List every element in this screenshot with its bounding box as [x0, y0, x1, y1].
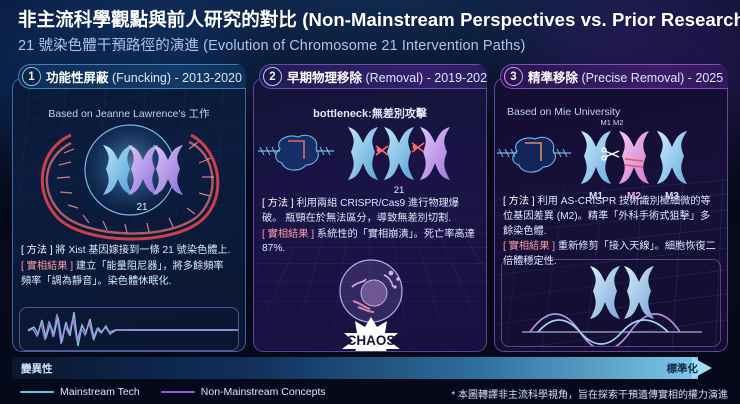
- header: 非主流科學觀點與前人研究的對比 (Non-Mainstream Perspect…: [18, 8, 726, 55]
- panel-2-result-tag: [ 實相結果 ]: [262, 229, 314, 240]
- chromosome-m3-icon: [657, 131, 687, 184]
- chaos-badge-label: CHAOS: [347, 333, 396, 348]
- panel-2-result: [ 實相結果 ] 系統性的「實相崩潰」。死亡率高達 87%.: [262, 228, 478, 258]
- panel-2-method: [ 方法 ] 利用兩組 CRISPR/Cas9 進行物理爆破。 瓶頸在於無法區分…: [262, 197, 478, 227]
- cell-chaos-icon: CHAOS: [254, 257, 487, 352]
- panel-2-early-physical-removal[interactable]: bottleneck:無差別攻擊: [253, 64, 487, 352]
- panel-3-text: [ 方法 ] 利用 AS-CRISPR 技術識別極細微的等位基因差異 (M2)。…: [503, 195, 719, 271]
- panel-3-result-tag: [ 實相結果 ]: [503, 241, 555, 252]
- panel-2-illustration: 21: [254, 119, 486, 197]
- legend-item-non-mainstream: Non-Mainstream Concepts: [161, 386, 326, 398]
- legend-swatch-mainstream-icon: [20, 391, 54, 393]
- as-crispr-icon: [497, 137, 571, 172]
- panel-1-title-zh: 功能性屏蔽: [46, 71, 109, 85]
- waveform-silencing-icon: [20, 308, 239, 350]
- panel-2-header[interactable]: 2 早期物理移除 (Removal) - 2019-2023: [257, 64, 487, 89]
- diploid-stability-icon: [502, 260, 721, 346]
- panel-1-method-tag: [ 方法 ]: [21, 245, 53, 256]
- panel-1-method: [ 方法 ] 將 Xist 基因嫁接到一條 21 號染色體上.: [21, 244, 237, 259]
- chromosome-stable-2-icon: [624, 266, 654, 319]
- legend: Mainstream Tech Non-Mainstream Concepts: [20, 386, 326, 398]
- chromosome-3-icon: [420, 127, 450, 180]
- page-title-zh: 非主流科學觀點與前人研究的對比: [18, 9, 297, 30]
- crispr-cut-diagram-icon: 21: [254, 119, 487, 197]
- cell-icon: [340, 260, 402, 322]
- panel-2-number: 2: [263, 67, 282, 86]
- legend-label-mainstream: Mainstream Tech: [60, 386, 140, 398]
- panel-3-precise-removal[interactable]: Based on Mie University M1 M2: [494, 64, 728, 352]
- panel-3-chip: 3 精準移除 (Precise Removal) - 2025: [500, 64, 728, 89]
- panel-1-header[interactable]: 1 功能性屏蔽 (Funcking) - 2013-2020: [16, 64, 246, 89]
- infographic-root: 非主流科學觀點與前人研究的對比 (Non-Mainstream Perspect…: [0, 0, 740, 404]
- as-crispr-precise-diagram-icon: M1 M2: [495, 115, 728, 201]
- chaos-badge-icon: CHAOS: [342, 317, 400, 352]
- panel-2-title-rest: (Removal) - 2019-2023: [362, 71, 487, 85]
- panel-1-body: 21 Based on Jeanne Lawrence's 工作 [ 方法 ] …: [12, 78, 246, 352]
- panel-3-result: [ 實相結果 ] 重新修剪「接入天線」。細胞恢復二倍體穩定性.: [503, 240, 719, 270]
- panel-1-chip: 1 功能性屏蔽 (Funcking) - 2013-2020: [18, 64, 246, 89]
- sine-wave-purple-icon: [530, 314, 680, 346]
- chromosome-number-label: 21: [136, 202, 148, 213]
- allele-marker-top-label: M1 M2: [601, 118, 624, 127]
- panel-2-text: [ 方法 ] 利用兩組 CRISPR/Cas9 進行物理爆破。 瓶頸在於無法區分…: [262, 197, 478, 258]
- panel-1-title: 功能性屏蔽 (Funcking) - 2013-2020: [46, 67, 242, 86]
- panel-2-title: 早期物理移除 (Removal) - 2019-2023: [287, 67, 487, 86]
- panel-1-method-text: 將 Xist 基因嫁接到一條 21 號染色體上.: [53, 245, 231, 256]
- panel-3-body: Based on Mie University M1 M2: [494, 78, 728, 352]
- panel-1-result-tag: [ 實相結果 ]: [21, 261, 73, 272]
- panel-1-caption: Based on Jeanne Lawrence's 工作: [13, 106, 245, 121]
- panel-2-title-zh: 早期物理移除: [287, 71, 362, 85]
- cas9-icon: [258, 135, 334, 170]
- axis-right-label: 標準化: [667, 361, 699, 376]
- axis-left-label: 變異性: [21, 361, 53, 376]
- panel-3-stability-card: [501, 259, 721, 347]
- panel-3-illustration: M1 M2: [495, 115, 727, 201]
- panel-1-functional-silencing[interactable]: 21 Based on Jeanne Lawrence's 工作 [ 方法 ] …: [12, 64, 246, 352]
- panel-3-number: 3: [504, 67, 523, 86]
- legend-label-non-mainstream: Non-Mainstream Concepts: [201, 386, 326, 398]
- panel-2-chip: 2 早期物理移除 (Removal) - 2019-2023: [259, 64, 487, 89]
- panel-3-title: 精準移除 (Precise Removal) - 2025: [528, 67, 723, 86]
- page-title: 非主流科學觀點與前人研究的對比 (Non-Mainstream Perspect…: [18, 8, 726, 31]
- panel-3-method: [ 方法 ] 利用 AS-CRISPR 技術識別極細微的等位基因差異 (M2)。…: [503, 195, 719, 239]
- panel-3-caption: Based on Mie University: [495, 106, 727, 118]
- panel-row: 21 Based on Jeanne Lawrence's 工作 [ 方法 ] …: [12, 64, 728, 352]
- chromosome-silencing-diagram-icon: 21: [13, 113, 246, 243]
- legend-item-mainstream: Mainstream Tech: [20, 386, 140, 398]
- axis-gradient-bar: [12, 357, 698, 379]
- panel-3-title-rest: (Precise Removal) - 2025: [578, 71, 723, 85]
- chromosome-2-icon: [384, 127, 414, 180]
- chromosome-number-label: 21: [394, 185, 405, 196]
- panel-3-method-tag: [ 方法 ]: [503, 196, 535, 207]
- chromosome-m2-icon: [619, 131, 649, 184]
- panel-1-illustration: 21: [13, 113, 245, 243]
- panel-1-waveform-card: [19, 307, 239, 351]
- panel-1-text: [ 方法 ] 將 Xist 基因嫁接到一條 21 號染色體上. [ 實相結果 ]…: [21, 244, 237, 290]
- panel-2-chaos-illustration: CHAOS: [254, 257, 486, 352]
- panel-3-method-text: 利用 AS-CRISPR 技術識別極細微的等位基因差異 (M2)。精準「外科手術…: [503, 196, 711, 237]
- footer-note: * 本圖轉譯非主流科學視角，旨在探索干預遺傳實相的權力演進: [451, 386, 728, 401]
- legend-swatch-non-mainstream-icon: [161, 391, 195, 393]
- panel-2-method-tag: [ 方法 ]: [262, 198, 294, 209]
- chromosome-stable-1-icon: [590, 266, 620, 319]
- page-subtitle: 21 號染色體干預路徑的演進 (Evolution of Chromosome …: [18, 34, 726, 55]
- panel-3-title-zh: 精準移除: [528, 71, 578, 85]
- panel-1-title-rest: (Funcking) - 2013-2020: [109, 71, 242, 85]
- panel-2-caption: bottleneck:無差別攻擊: [254, 105, 486, 121]
- panel-3-header[interactable]: 3 精準移除 (Precise Removal) - 2025: [498, 64, 728, 89]
- panel-1-number: 1: [22, 67, 41, 86]
- panel-1-result: [ 實相結果 ] 建立「能量阻尼器」，將多餘頻率 頻率「調為靜音」。染色體休眠化…: [21, 260, 237, 290]
- chromosome-1-icon: [348, 127, 378, 180]
- panel-2-body: bottleneck:無差別攻擊: [253, 78, 487, 352]
- variability-standardization-axis: 變異性 標準化: [12, 357, 728, 379]
- page-title-en: (Non-Mainstream Perspectives vs. Prior R…: [297, 9, 740, 30]
